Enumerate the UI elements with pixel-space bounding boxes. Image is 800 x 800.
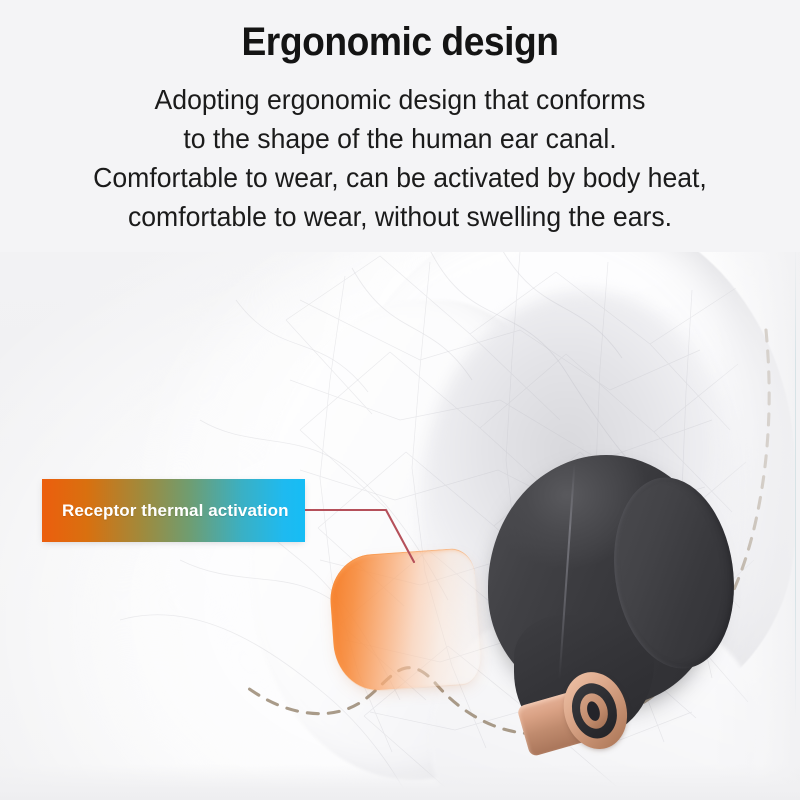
description-line-1: Adopting ergonomic design that conforms	[20, 80, 780, 119]
page-title: Ergonomic design	[28, 14, 772, 70]
product-feature-slide: Receptor thermal activation Ergonomic de…	[0, 0, 800, 800]
right-border-line	[795, 240, 796, 720]
header-text-block: Ergonomic design Adopting ergonomic desi…	[0, 0, 800, 252]
description-line-3: Comfortable to wear, can be activated by…	[20, 158, 780, 197]
description-line-2: to the shape of the human ear canal.	[20, 119, 780, 158]
silicone-ear-tip	[327, 547, 482, 693]
wireless-earbud	[470, 455, 770, 775]
callout-badge[interactable]: Receptor thermal activation	[42, 479, 305, 542]
callout-badge-label: Receptor thermal activation	[62, 479, 289, 542]
page-description: Adopting ergonomic design that conforms …	[0, 80, 800, 236]
description-line-4: comfortable to wear, without swelling th…	[20, 197, 780, 236]
